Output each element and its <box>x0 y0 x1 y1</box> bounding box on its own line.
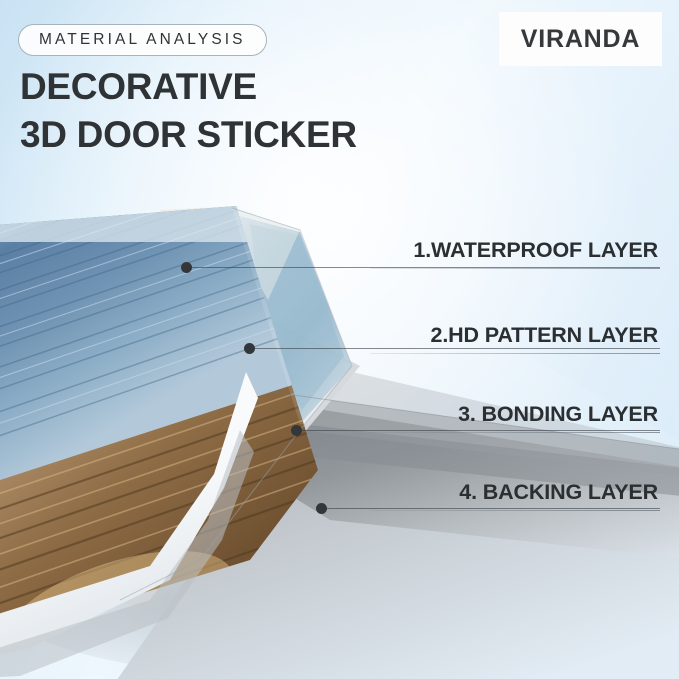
callout-dot-1 <box>181 262 192 273</box>
callout-label-3: 3. BONDING LAYER <box>458 404 658 426</box>
callout-leader-2 <box>255 348 660 349</box>
callout-dot-3 <box>291 425 302 436</box>
callout-label-2: 2.HD PATTERN LAYER <box>431 325 658 347</box>
layer-callouts: 1.WATERPROOF LAYER 2.HD PATTERN LAYER 3.… <box>0 0 679 679</box>
callout-label-3-text: 3. BONDING LAYER <box>458 404 658 426</box>
callout-dot-2 <box>244 343 255 354</box>
callout-label-4: 4. BACKING LAYER <box>459 482 658 504</box>
callout-leader-4 <box>327 508 660 509</box>
callout-label-4-text: 4. BACKING LAYER <box>459 482 658 504</box>
callout-rule-4 <box>370 510 660 511</box>
callout-rule-2 <box>370 353 660 354</box>
callout-label-2-text: 2.HD PATTERN LAYER <box>431 325 658 347</box>
callout-leader-3 <box>302 430 660 431</box>
callout-rule-1 <box>370 268 660 269</box>
material-analysis-infographic: MATERIAL ANALYSIS DECORATIVE 3D DOOR STI… <box>0 0 679 679</box>
callout-label-1: 1.WATERPROOF LAYER <box>413 240 658 262</box>
callout-label-1-text: 1.WATERPROOF LAYER <box>413 240 658 262</box>
callout-rule-3 <box>370 432 660 433</box>
callout-dot-4 <box>316 503 327 514</box>
